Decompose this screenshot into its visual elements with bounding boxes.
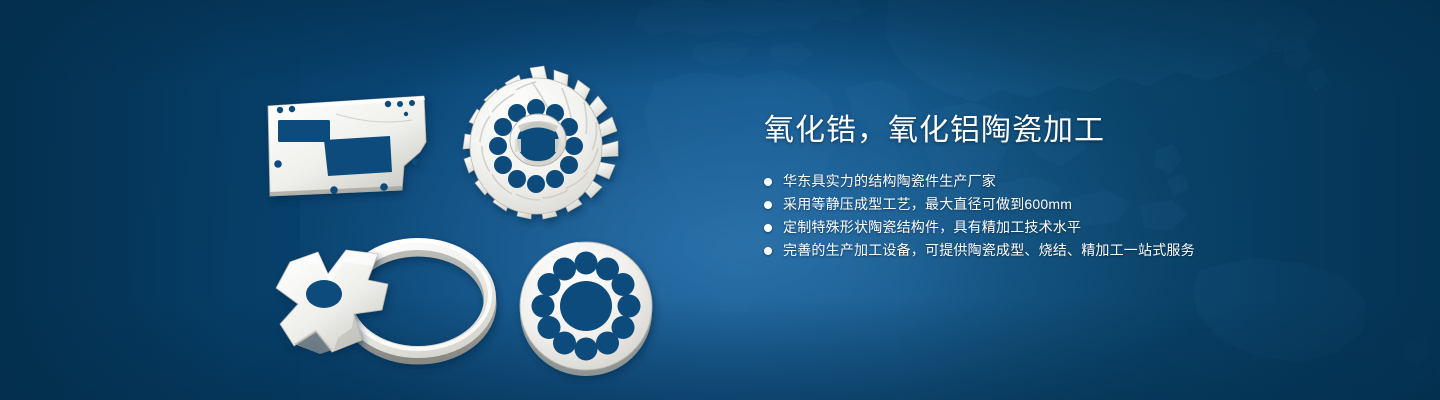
list-item: 定制特殊形状陶瓷结构件，具有精加工技术水平	[764, 216, 1384, 239]
page-title: 氧化锆，氧化铝陶瓷加工	[764, 110, 1384, 152]
bullet-dot-icon	[764, 247, 772, 255]
list-item: 完善的生产加工设备，可提供陶瓷成型、烧结、精加工一站式服务	[764, 239, 1384, 262]
bullet-dot-icon	[764, 224, 772, 232]
bullet-dot-icon	[764, 178, 772, 186]
list-item: 华东具实力的结构陶瓷件生产厂家	[764, 170, 1384, 193]
ceramic-perforated-disc	[520, 242, 652, 376]
bullet-label: 华东具实力的结构陶瓷件生产厂家	[783, 170, 996, 193]
bullet-dot-icon	[764, 201, 772, 209]
bullet-label: 完善的生产加工设备，可提供陶瓷成型、烧结、精加工一站式服务	[783, 239, 1195, 262]
ceramic-vaned-impeller	[463, 66, 618, 219]
feature-bullet-list: 华东具实力的结构陶瓷件生产厂家 采用等静压成型工艺，最大直径可做到600mm 定…	[764, 170, 1384, 262]
ceramic-products-photo	[236, 44, 696, 384]
bullet-label: 采用等静压成型工艺，最大直径可做到600mm	[783, 193, 1072, 216]
bullet-label: 定制特殊形状陶瓷结构件，具有精加工技术水平	[783, 216, 1081, 239]
list-item: 采用等静压成型工艺，最大直径可做到600mm	[764, 193, 1384, 216]
ceramic-products-hero-banner: 氧化锆，氧化铝陶瓷加工 华东具实力的结构陶瓷件生产厂家 采用等静压成型工艺，最大…	[0, 0, 1440, 400]
banner-copy-block: 氧化锆，氧化铝陶瓷加工 华东具实力的结构陶瓷件生产厂家 采用等静压成型工艺，最大…	[764, 110, 1384, 262]
ceramic-machined-plate	[268, 96, 426, 196]
